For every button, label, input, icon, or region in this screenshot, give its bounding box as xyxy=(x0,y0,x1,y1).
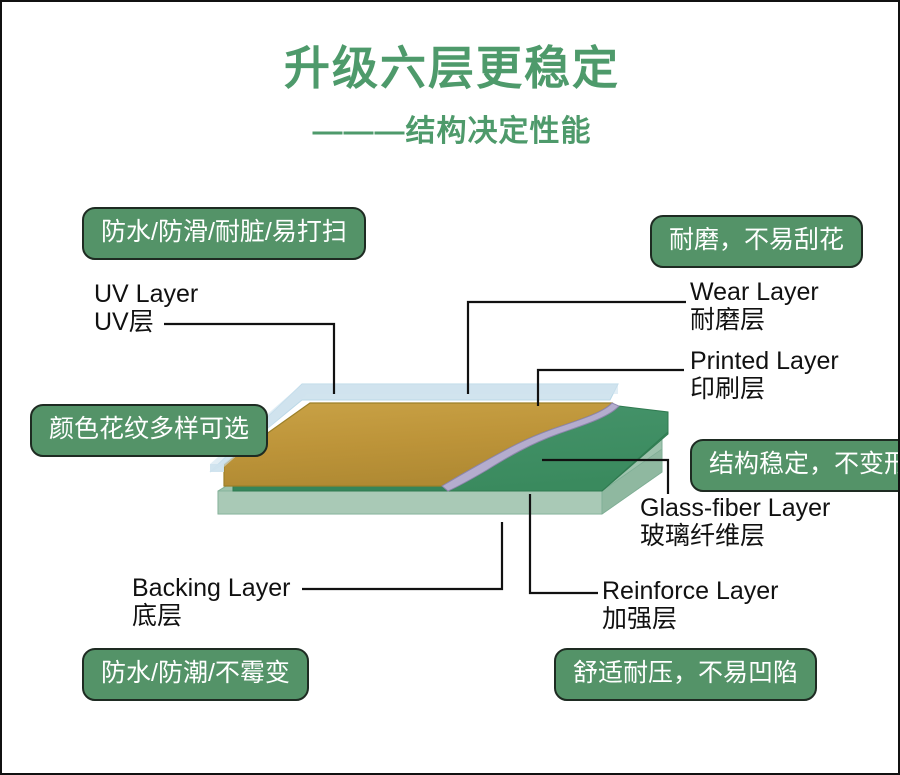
callout-reinforce-layer-cn: 加强层 xyxy=(602,605,778,633)
callout-backing-layer-en: Backing Layer xyxy=(132,574,290,602)
callout-uv-layer: UV Layer UV层 xyxy=(94,280,198,336)
callout-printed-layer-en: Printed Layer xyxy=(690,347,839,375)
callout-wear-layer-en: Wear Layer xyxy=(690,278,819,306)
badge-color-pattern[interactable]: 颜色花纹多样可选 xyxy=(30,404,268,457)
callout-reinforce-layer: Reinforce Layer 加强层 xyxy=(602,577,778,633)
callout-glass-fiber-layer-cn: 玻璃纤维层 xyxy=(640,522,830,550)
badge-moisture-proof[interactable]: 防水/防潮/不霉变 xyxy=(82,648,309,701)
badge-waterproof-antislip[interactable]: 防水/防滑/耐脏/易打扫 xyxy=(82,207,366,260)
badge-comfort-pressure[interactable]: 舒适耐压，不易凹陷 xyxy=(554,648,817,701)
diagram-canvas: 升级六层更稳定 ———结构决定性能 xyxy=(0,0,900,775)
callout-wear-layer-cn: 耐磨层 xyxy=(690,306,819,334)
callout-glass-fiber-layer-en: Glass-fiber Layer xyxy=(640,494,830,522)
badge-wear-resistant[interactable]: 耐磨，不易刮花 xyxy=(650,215,863,268)
badge-stable-structure[interactable]: 结构稳定，不变形 xyxy=(690,439,900,492)
callout-backing-layer-cn: 底层 xyxy=(132,602,290,630)
callout-printed-layer: Printed Layer 印刷层 xyxy=(690,347,839,403)
callout-wear-layer: Wear Layer 耐磨层 xyxy=(690,278,819,334)
callout-uv-layer-en: UV Layer xyxy=(94,280,198,308)
callout-backing-layer: Backing Layer 底层 xyxy=(132,574,290,630)
callout-printed-layer-cn: 印刷层 xyxy=(690,375,839,403)
callout-reinforce-layer-en: Reinforce Layer xyxy=(602,577,778,605)
callout-uv-layer-cn: UV层 xyxy=(94,308,198,336)
callout-glass-fiber-layer: Glass-fiber Layer 玻璃纤维层 xyxy=(640,494,830,550)
